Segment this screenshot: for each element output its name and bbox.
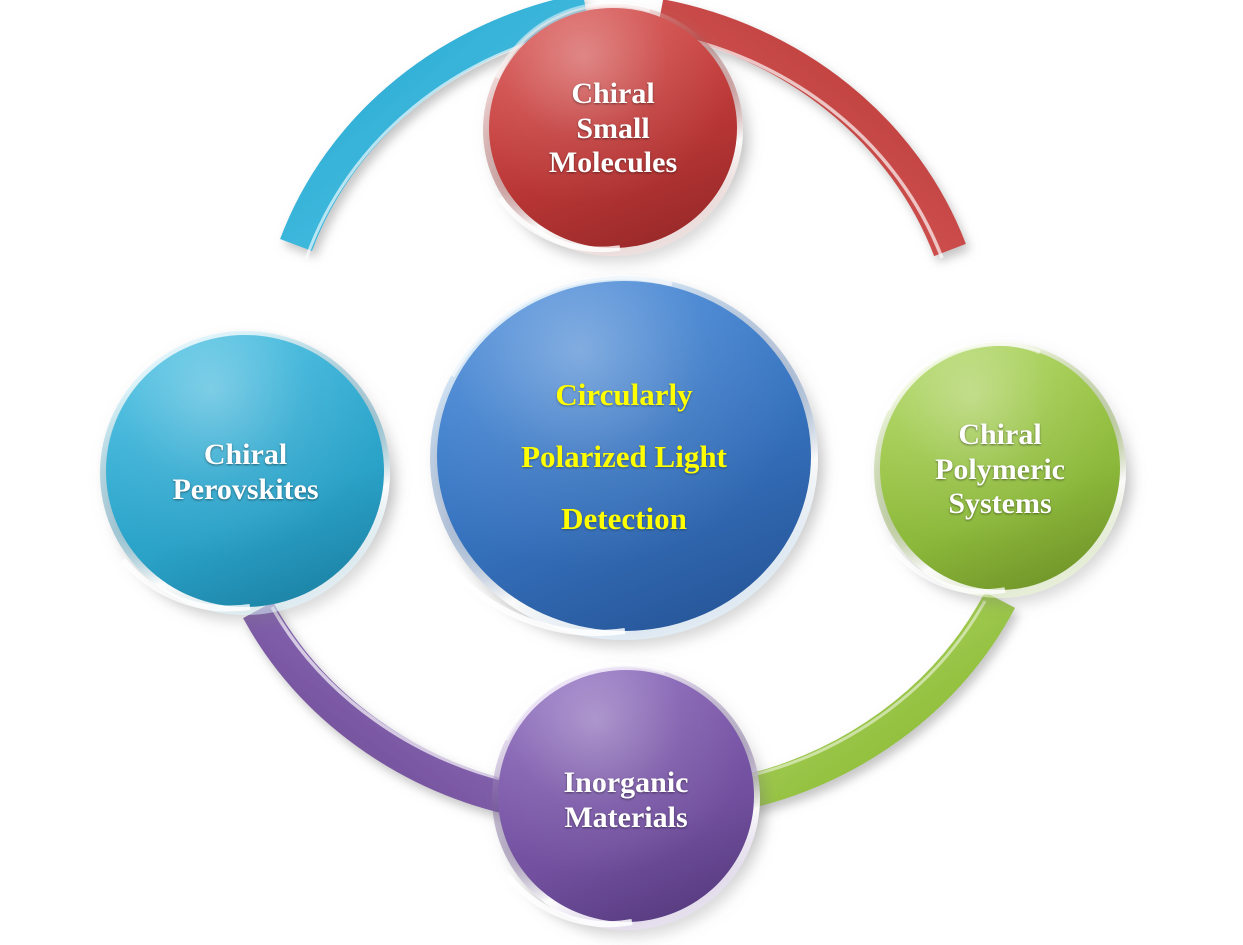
diagram-canvas: Chiral Small Molecules Chiral Polymeric … — [0, 0, 1243, 945]
diagram-svg — [0, 0, 1243, 945]
arc-polymeric-systems-to-inorganic-materials — [733, 600, 1000, 795]
node-chiral-polymeric-systems[interactable] — [874, 342, 1126, 598]
node-center-circularly-polarized-light-detection[interactable] — [430, 276, 818, 640]
node-chiral-perovskites[interactable] — [100, 323, 390, 615]
node-chiral-small-molecules[interactable] — [483, 4, 743, 256]
node-inorganic-materials[interactable] — [492, 665, 760, 930]
